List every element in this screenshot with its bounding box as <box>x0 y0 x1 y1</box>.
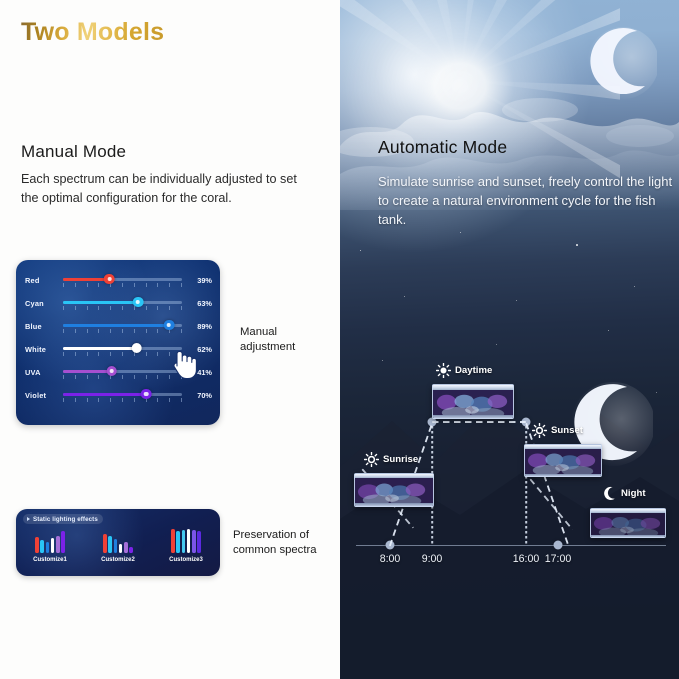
sun-icon <box>436 363 451 378</box>
slider-track-wrap[interactable] <box>63 320 182 334</box>
preset-bar <box>176 531 180 553</box>
slider-label: Cyan <box>25 299 63 308</box>
preset-bar <box>119 544 123 553</box>
slider-ticks <box>63 398 182 402</box>
page-title: Two Models <box>21 18 164 47</box>
timeline-axis <box>356 545 666 546</box>
callout-preservation-text: Preservation of common spectra <box>233 529 317 556</box>
callout-manual-adjustment-text: Manual adjustment <box>240 326 295 353</box>
spectrum-slider-list: Red39%Cyan63%Blue89%White62%UVA41%Violet… <box>25 269 212 407</box>
event-label-sunset-text: Sunset <box>551 425 583 436</box>
moon-icon <box>602 486 617 501</box>
preset-bar <box>56 536 60 553</box>
preset-bars <box>103 526 133 553</box>
automatic-mode-panel: Automatic Mode Simulate sunrise and suns… <box>340 0 679 679</box>
slider-track-wrap[interactable] <box>63 389 182 403</box>
tank-rim-bottom <box>591 535 665 537</box>
preset-label: Customize1 <box>33 557 67 563</box>
preset-label: Customize2 <box>101 557 135 563</box>
slider-fill <box>63 347 137 350</box>
slider-label: Red <box>25 276 63 285</box>
timeline-label-0: 8:00 <box>380 553 401 565</box>
tank-night <box>590 508 666 538</box>
slider-fill <box>63 278 109 281</box>
preset-item-1[interactable]: Customize1 <box>16 526 84 563</box>
automatic-timeline: 8:00 9:00 16:00 17:00 <box>340 0 679 679</box>
event-label-night-text: Night <box>621 488 646 499</box>
event-label-sunrise-text: Sunrise <box>383 454 418 465</box>
slider-knob[interactable] <box>141 389 152 400</box>
preset-bars <box>35 526 65 553</box>
spectrum-slider-card: Red39%Cyan63%Blue89%White62%UVA41%Violet… <box>16 260 220 425</box>
preset-bar <box>51 538 55 553</box>
slider-ticks <box>63 375 182 379</box>
slider-value: 62% <box>182 345 212 354</box>
tank-rim-bottom <box>433 415 513 418</box>
slider-knob[interactable] <box>133 297 144 308</box>
slider-ticks <box>63 283 182 287</box>
slider-label: Violet <box>25 391 63 400</box>
slider-value: 41% <box>182 368 212 377</box>
slider-knob[interactable] <box>106 366 117 377</box>
timeline-node-17[interactable] <box>554 541 563 550</box>
slider-knob[interactable] <box>131 343 142 354</box>
slider-row-uva[interactable]: UVA41% <box>25 361 212 384</box>
static-lighting-effects-label: Static lighting effects <box>33 516 98 523</box>
tank-water <box>591 513 665 537</box>
slider-ticks <box>63 352 182 356</box>
chevron-right-icon <box>27 517 30 521</box>
timeline-segment-fall <box>525 423 570 547</box>
tank-rim-bottom <box>525 474 601 476</box>
slider-knob[interactable] <box>104 274 115 285</box>
sunrise-icon <box>364 452 379 467</box>
leader-sunset <box>529 478 573 530</box>
slider-value: 63% <box>182 299 212 308</box>
slider-row-violet[interactable]: Violet70% <box>25 384 212 407</box>
page-root: Two Models Manual Mode Each spectrum can… <box>0 0 679 679</box>
preset-bar <box>187 529 191 553</box>
preset-bar <box>192 530 196 553</box>
slider-value: 70% <box>182 391 212 400</box>
static-lighting-effects-card[interactable]: Static lighting effects Customize1Custom… <box>16 509 220 576</box>
preset-list: Customize1Customize2Customize3 <box>16 526 220 563</box>
event-label-sunrise: Sunrise <box>364 452 418 467</box>
slider-track-wrap[interactable] <box>63 297 182 311</box>
preset-bar <box>197 531 201 553</box>
static-lighting-effects-pill[interactable]: Static lighting effects <box>23 514 103 524</box>
preset-label: Customize3 <box>169 557 203 563</box>
slider-value: 39% <box>182 276 212 285</box>
preset-bar <box>124 542 128 553</box>
tank-water <box>433 390 513 418</box>
slider-fill <box>63 370 112 373</box>
preset-bar <box>61 531 65 553</box>
tank-water <box>355 478 433 506</box>
preset-bar <box>108 536 112 553</box>
preset-bars <box>171 526 201 553</box>
slider-label: Blue <box>25 322 63 331</box>
timeline-label-2: 16:00 <box>513 553 540 565</box>
tank-sunrise <box>354 473 434 507</box>
slider-label: White <box>25 345 63 354</box>
callout-manual-adjustment: Manual adjustment <box>240 325 340 355</box>
slider-value: 89% <box>182 322 212 331</box>
timeline-segment-plateau <box>432 421 526 423</box>
slider-ticks <box>63 329 182 333</box>
event-label-daytime-text: Daytime <box>455 365 492 376</box>
manual-mode-heading: Manual Mode <box>21 142 126 162</box>
preset-bar <box>46 542 50 553</box>
slider-label: UVA <box>25 368 63 377</box>
preset-bar <box>182 530 186 553</box>
slider-row-red[interactable]: Red39% <box>25 269 212 292</box>
slider-fill <box>63 324 169 327</box>
slider-fill <box>63 393 146 396</box>
preset-item-3[interactable]: Customize3 <box>152 526 220 563</box>
event-label-sunset: Sunset <box>532 423 583 438</box>
slider-track-wrap[interactable] <box>63 274 182 288</box>
slider-track-wrap[interactable] <box>63 366 182 380</box>
event-label-daytime: Daytime <box>436 363 492 378</box>
manual-mode-panel: Two Models Manual Mode Each spectrum can… <box>0 0 340 679</box>
slider-track-wrap[interactable] <box>63 343 182 357</box>
slider-row-cyan[interactable]: Cyan63% <box>25 292 212 315</box>
preset-bar <box>129 547 133 553</box>
timeline-label-3: 17:00 <box>545 553 572 565</box>
preset-item-2[interactable]: Customize2 <box>84 526 152 563</box>
callout-preservation: Preservation of common spectra <box>233 528 340 558</box>
slider-ticks <box>63 306 182 310</box>
preset-bar <box>35 537 39 553</box>
preset-bar <box>103 534 107 553</box>
slider-fill <box>63 301 138 304</box>
sunset-icon <box>532 423 547 438</box>
slider-row-white[interactable]: White62% <box>25 338 212 361</box>
tank-water <box>525 449 601 476</box>
tank-daytime <box>432 384 514 419</box>
slider-knob[interactable] <box>164 320 175 331</box>
tank-rim-bottom <box>355 503 433 506</box>
slider-row-blue[interactable]: Blue89% <box>25 315 212 338</box>
preset-bar <box>114 539 118 553</box>
tank-sunset <box>524 444 602 477</box>
preset-bar <box>40 540 44 553</box>
event-label-night: Night <box>602 486 646 501</box>
preset-bar <box>171 529 175 553</box>
timeline-label-1: 9:00 <box>422 553 443 565</box>
manual-mode-description: Each spectrum can be individually adjust… <box>21 170 313 207</box>
